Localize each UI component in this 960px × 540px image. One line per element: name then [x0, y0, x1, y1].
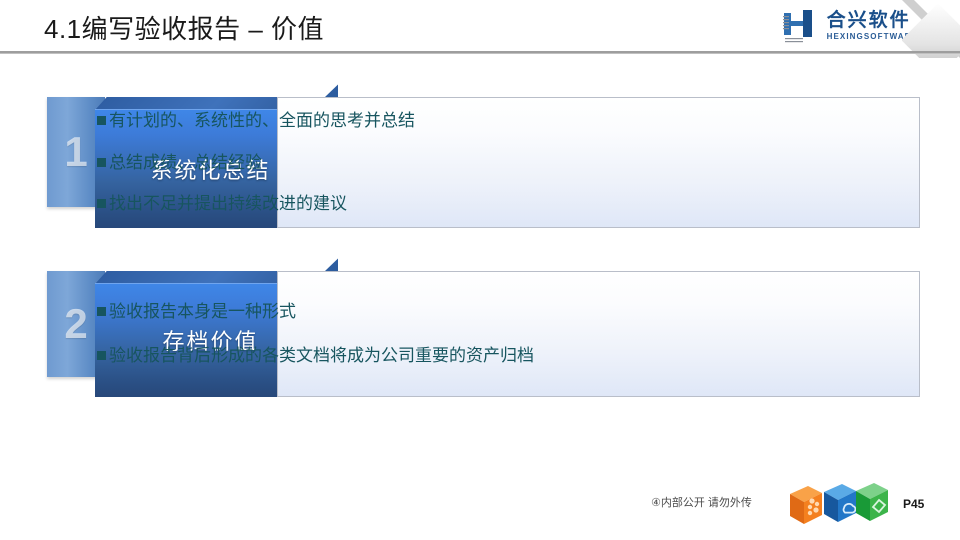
bullet-list-1: 有计划的、系统性的、全面的思考并总结 总结成绩、总结经验 找出不足并提出持续改进…: [97, 97, 682, 228]
slide-header: 4.1编写验收报告 – 价值 合兴软件 HEXINGSOFTWAR: [0, 0, 960, 56]
page-number: P45: [903, 497, 924, 511]
logo-name-cn: 合兴软件: [827, 11, 911, 30]
list-item: 找出不足并提出持续改进的建议: [97, 194, 682, 214]
list-item: 验收报告背后形成的各类文档将成为公司重要的资产归档: [97, 346, 682, 366]
bullet-square-icon: [97, 116, 106, 125]
diamond-cube-icon: [856, 483, 888, 521]
page-title: 4.1编写验收报告 – 价值: [44, 9, 324, 46]
hexing-h-mark-icon: [780, 7, 820, 45]
bullet-text: 有计划的、系统性的、全面的思考并总结: [109, 111, 415, 131]
page-curl-decoration: [902, 0, 960, 58]
list-item: 总结成绩、总结经验: [97, 153, 682, 173]
bullet-text: 找出不足并提出持续改进的建议: [109, 194, 347, 214]
cloud-cube-icon: [824, 484, 856, 522]
header-divider: [0, 51, 960, 54]
bullet-text: 验收报告本身是一种形式: [109, 302, 296, 322]
list-item: 验收报告本身是一种形式: [97, 302, 682, 322]
slide-footer: ④内部公开 请勿外传: [0, 484, 960, 540]
bullet-square-icon: [97, 351, 106, 360]
content-block-2: 2 存档价值 验收报告本身是一种形式 验收报告背后形成的各类文档将成为公司重要的…: [47, 271, 920, 397]
list-item: 有计划的、系统性的、全面的思考并总结: [97, 111, 682, 131]
content-block-1: 1 系统化总结 有计划的、系统性的、全面的思考并总结 总结成绩、总结经验 找出不…: [47, 97, 920, 228]
bullet-list-2: 验收报告本身是一种形式 验收报告背后形成的各类文档将成为公司重要的资产归档: [97, 271, 682, 397]
confidentiality-notice: ④内部公开 请勿外传: [651, 494, 752, 510]
bullet-square-icon: [97, 158, 106, 167]
bullet-text: 总结成绩、总结经验: [109, 153, 262, 173]
footer-cube-icons: [786, 482, 890, 532]
company-logo: 合兴软件 HEXINGSOFTWARE: [780, 5, 918, 47]
bullet-square-icon: [97, 199, 106, 208]
molecule-cube-icon: [790, 486, 822, 524]
bullet-square-icon: [97, 307, 106, 316]
bullet-text: 验收报告背后形成的各类文档将成为公司重要的资产归档: [109, 346, 534, 366]
